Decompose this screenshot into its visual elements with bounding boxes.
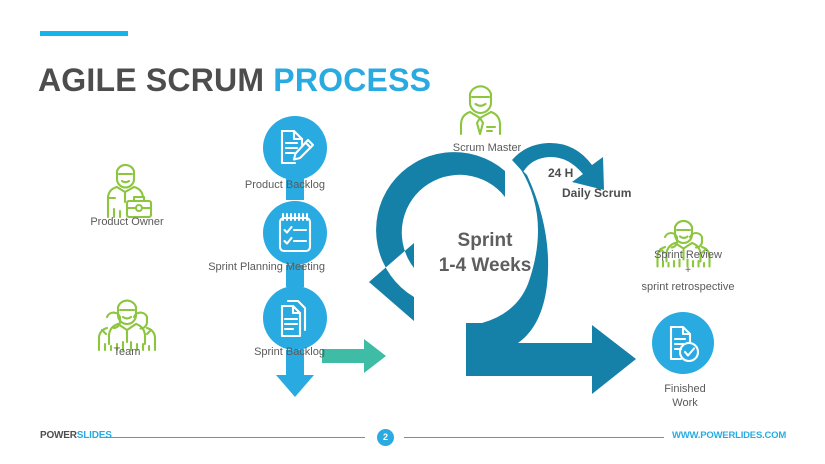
label-sprint-cycle: Sprint 1-4 Weeks — [400, 228, 570, 278]
label-sprint-backlog: Sprint Backlog — [140, 345, 325, 359]
footer-brand-power: POWER — [40, 430, 77, 441]
label-daily-scrum: Daily Scrum — [562, 186, 672, 200]
label-sprint-retrospective: sprint retrospective — [608, 279, 768, 295]
slide-canvas: AGILE SCRUM PROCESS — [0, 0, 825, 464]
label-product-backlog: Product Backlog — [140, 178, 325, 192]
page-number-badge: 2 — [377, 429, 394, 446]
icon-circle-sprint-planning[interactable] — [263, 201, 327, 265]
label-sprint-review-plus: + — [608, 263, 768, 279]
label-sprint-review-title: Sprint Review — [654, 249, 722, 261]
person-tie-icon — [461, 86, 500, 134]
label-finished-line1: Finished — [664, 383, 706, 395]
label-sprint-planning-meeting: Sprint Planning Meeting — [120, 260, 325, 274]
label-daily-hours: 24 H — [548, 166, 618, 180]
people-group-icon — [99, 301, 155, 350]
footer-brand-slides: SLIDES — [77, 430, 112, 441]
footer-brand: POWERSLIDES — [40, 430, 112, 441]
label-scrum-master: Scrum Master — [422, 141, 552, 155]
label-finished-line2: Work — [625, 396, 745, 410]
label-product-owner: Product Owner — [62, 215, 192, 229]
footer-url[interactable]: WWW.POWERLIDES.COM — [672, 430, 786, 441]
footer-divider-left — [100, 437, 365, 438]
input-arrow-to-sprint — [322, 339, 386, 373]
label-sprint-review: Sprint Review + sprint retrospective — [608, 247, 768, 295]
label-finished-work: Finished Work — [625, 382, 745, 410]
label-sprint-duration: 1-4 Weeks — [400, 253, 570, 278]
label-sprint-title: Sprint — [458, 230, 513, 251]
footer-divider-right — [404, 437, 664, 438]
